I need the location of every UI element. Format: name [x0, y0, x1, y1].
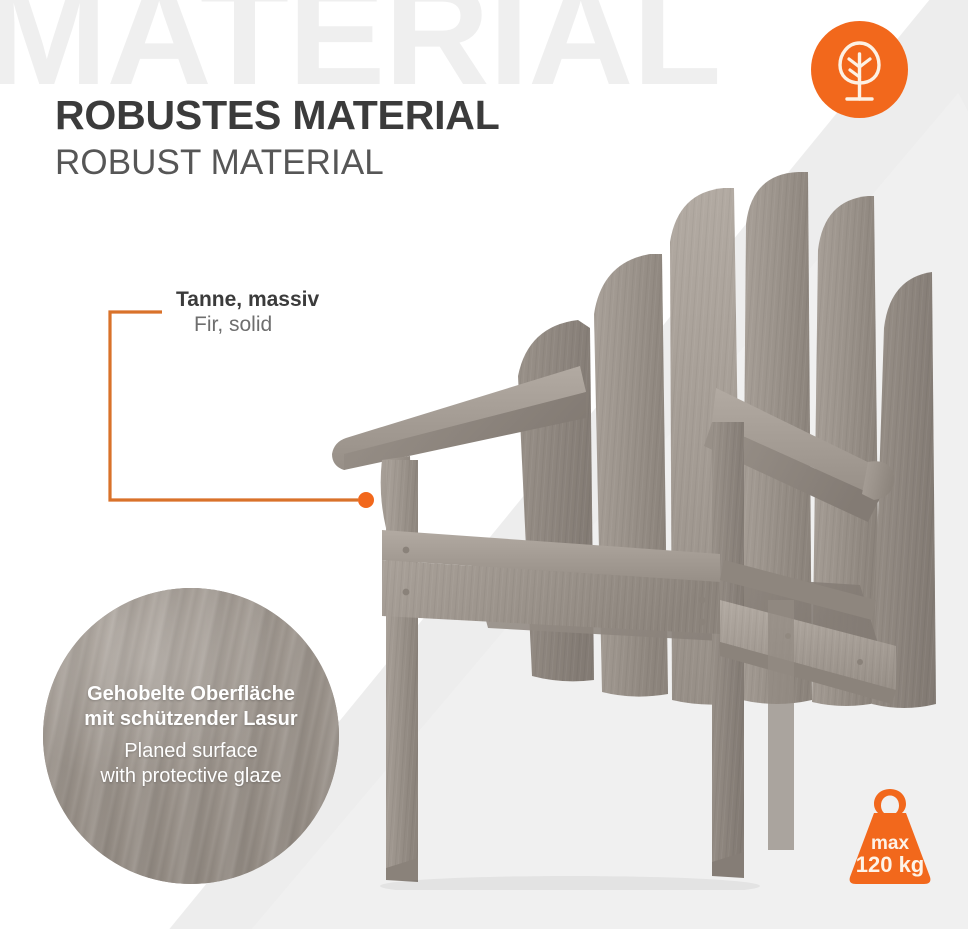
callout-label: Tanne, massiv Fir, solid — [176, 288, 506, 338]
callout-label-de: Tanne, massiv — [176, 288, 506, 313]
wood-text-en-line2: with protective glaze — [43, 764, 339, 789]
tree-badge — [811, 21, 908, 118]
wood-text-de-line2: mit schützender Lasur — [43, 707, 339, 732]
wood-detail-text: Gehobelte Oberfläche mit schützender Las… — [43, 682, 339, 789]
weight-badge: max 120 kg — [838, 787, 942, 887]
wood-text-de-line1: Gehobelte Oberfläche — [43, 682, 339, 707]
chair-illustration — [320, 130, 940, 890]
wood-detail-circle: Gehobelte Oberfläche mit schützender Las… — [43, 588, 339, 884]
wood-text-en-line1: Planed surface — [43, 739, 339, 764]
chair-leg-front-left — [386, 460, 418, 882]
page-title: ROBUSTES MATERIAL — [55, 92, 500, 139]
callout-label-en: Fir, solid — [194, 313, 506, 338]
chair-side-rail — [382, 530, 720, 634]
page-subtitle: ROBUST MATERIAL — [55, 143, 384, 183]
chair-leg-rear — [768, 600, 794, 850]
tree-icon — [811, 21, 908, 118]
callout-dot — [358, 492, 374, 508]
weight-icon: max 120 kg — [838, 787, 942, 887]
watermark-text: MATERIAL — [0, 0, 721, 107]
infographic-canvas: MATERIAL — [0, 0, 968, 929]
weight-badge-value: 120 kg — [856, 852, 925, 877]
weight-badge-label: max — [871, 833, 909, 854]
